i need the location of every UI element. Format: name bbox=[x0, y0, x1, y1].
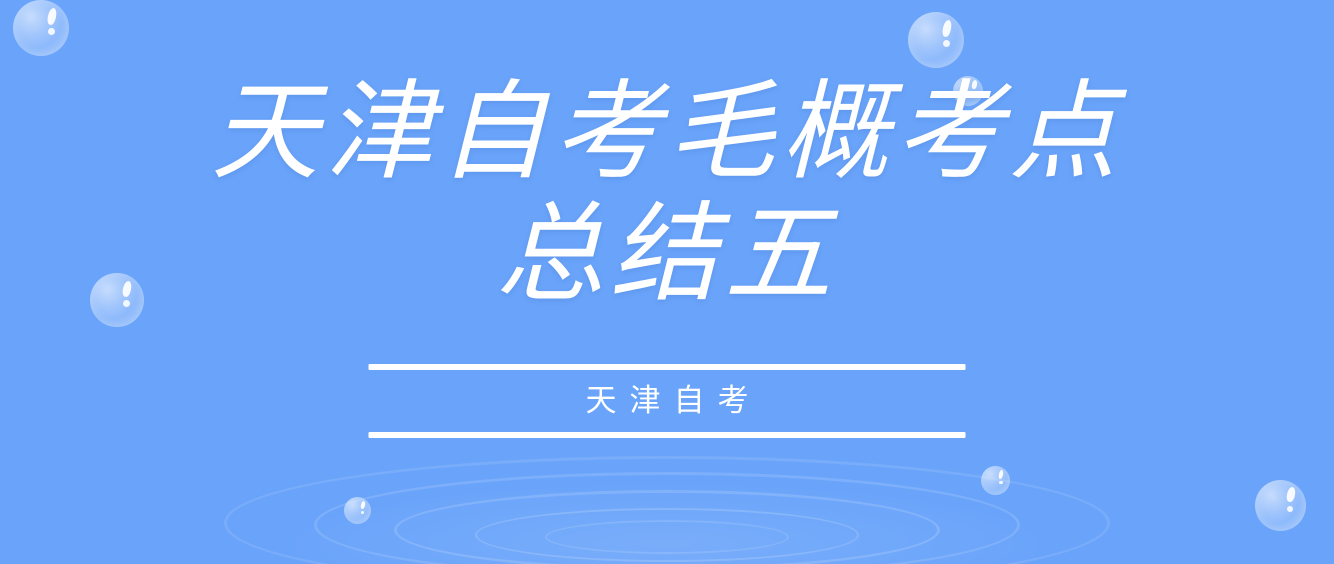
page-title: 天津自考毛概考点 总结五 bbox=[211, 0, 1123, 314]
page-title-line-1: 天津自考毛概考点 bbox=[211, 74, 1123, 192]
subtitle-text: 天津自考 bbox=[369, 370, 966, 432]
course-banner: 天津自考毛概考点 总结五 天津自考 bbox=[0, 0, 1334, 564]
subtitle-block: 天津自考 bbox=[369, 364, 966, 438]
page-title-line-2: 总结五 bbox=[211, 196, 1123, 314]
banner-content: 天津自考毛概考点 总结五 天津自考 bbox=[0, 0, 1334, 564]
subtitle-rule-bottom bbox=[369, 432, 966, 438]
